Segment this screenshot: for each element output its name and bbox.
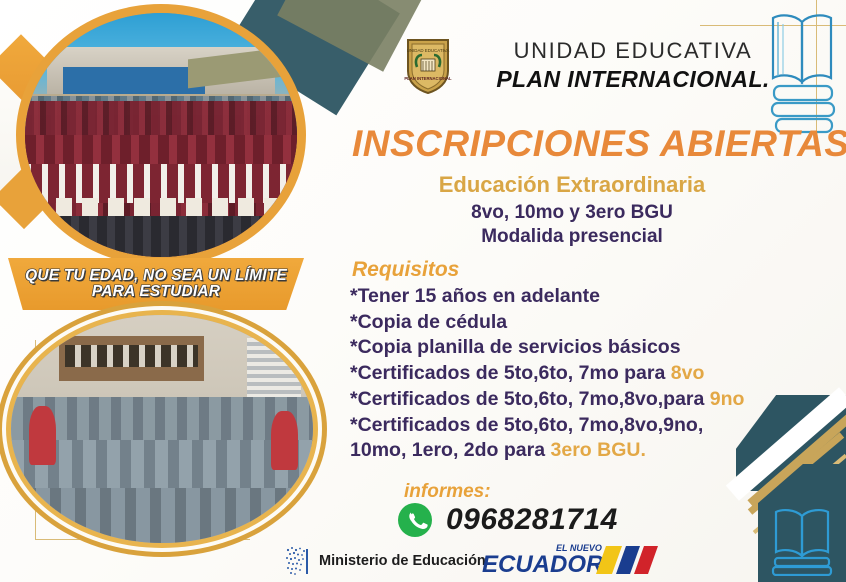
requirement-item: *Copia de cédula [350, 310, 820, 336]
subtitle-modality: Educación Extraordinaria [352, 172, 792, 198]
svg-text:UNIDAD EDUCATIVA: UNIDAD EDUCATIVA [407, 48, 450, 53]
svg-text:PLAN INTERNACIONAL: PLAN INTERNACIONAL [404, 76, 452, 81]
requirement-text: *Tener 15 años en adelante [350, 285, 600, 307]
requirement-item: *Certificados de 5to,6to, 7mo,8vo,9no, [350, 413, 820, 439]
subtitle-format: Modalida presencial [352, 226, 792, 248]
requirement-item: *Certificados de 5to,6to, 7mo,8vo,para 9… [350, 387, 820, 413]
requirements-title: Requisitos [352, 258, 459, 282]
institution-line-1: UNIDAD EDUCATIVA [468, 38, 798, 64]
slogan-banner: QUE TU EDAD, NO SEA UN LÍMITE PARA ESTUD… [8, 258, 304, 310]
requirement-text: 10mo, 1ero, 2do para [350, 439, 551, 461]
requirement-text: *Certificados de 5to,6to, 7mo,8vo,9no, [350, 414, 703, 436]
ministry-label: Ministerio de Educación [319, 553, 486, 569]
slogan-line-2: PARA ESTUDIAR [92, 283, 220, 300]
requirement-item: *Tener 15 años en adelante [350, 284, 820, 310]
institution-header: UNIDAD EDUCATIVA PLAN INTERNACIONAL. [468, 38, 798, 93]
contact-label: informes: [404, 481, 491, 503]
ministry-mark-icon [282, 545, 312, 577]
whatsapp-icon[interactable] [396, 501, 434, 539]
subtitle-levels: 8vo, 10mo y 3ero BGU [352, 202, 792, 224]
institution-line-2: PLAN INTERNACIONAL. [468, 66, 798, 93]
contact-row[interactable]: 0968281714 [396, 501, 618, 539]
requirement-item: *Copia planilla de servicios básicos [350, 335, 820, 361]
svg-text:ECUADOR: ECUADOR [482, 551, 604, 578]
requirement-text: *Copia planilla de servicios básicos [350, 336, 681, 358]
requirement-highlight: 8vo [671, 362, 705, 384]
requirement-text: *Certificados de 5to,6to, 7mo,8vo,para [350, 388, 710, 410]
requirement-text: *Copia de cédula [350, 311, 507, 333]
ministry-logo: Ministerio de Educación [282, 545, 486, 577]
requirement-highlight: 3ero BGU. [551, 439, 646, 461]
school-crest-icon: UNIDAD EDUCATIVA PLAN INTERNACIONAL [404, 37, 452, 95]
page-title: INSCRIPCIONES ABIERTAS [352, 123, 802, 165]
ecuador-campaign-logo: EL NUEVO ECUADOR [480, 540, 660, 580]
slogan-line-1: QUE TU EDAD, NO SEA UN LÍMITE [25, 267, 287, 284]
requirement-item: *Certificados de 5to,6to, 7mo para 8vo [350, 361, 820, 387]
phone-number[interactable]: 0968281714 [446, 503, 618, 537]
flyer-canvas: QUE TU EDAD, NO SEA UN LÍMITE PARA ESTUD… [0, 0, 846, 582]
requirement-item: 10mo, 1ero, 2do para 3ero BGU. [350, 438, 820, 464]
requirement-text: *Certificados de 5to,6to, 7mo para [350, 362, 671, 384]
requirements-list: *Tener 15 años en adelante*Copia de cédu… [350, 284, 820, 464]
slogan-text: QUE TU EDAD, NO SEA UN LÍMITE PARA ESTUD… [25, 268, 287, 301]
requirement-highlight: 9no [710, 388, 745, 410]
adult-students-group-photo [6, 310, 318, 548]
open-book-icon [766, 502, 838, 576]
graduation-ceremony-photo [16, 4, 306, 266]
